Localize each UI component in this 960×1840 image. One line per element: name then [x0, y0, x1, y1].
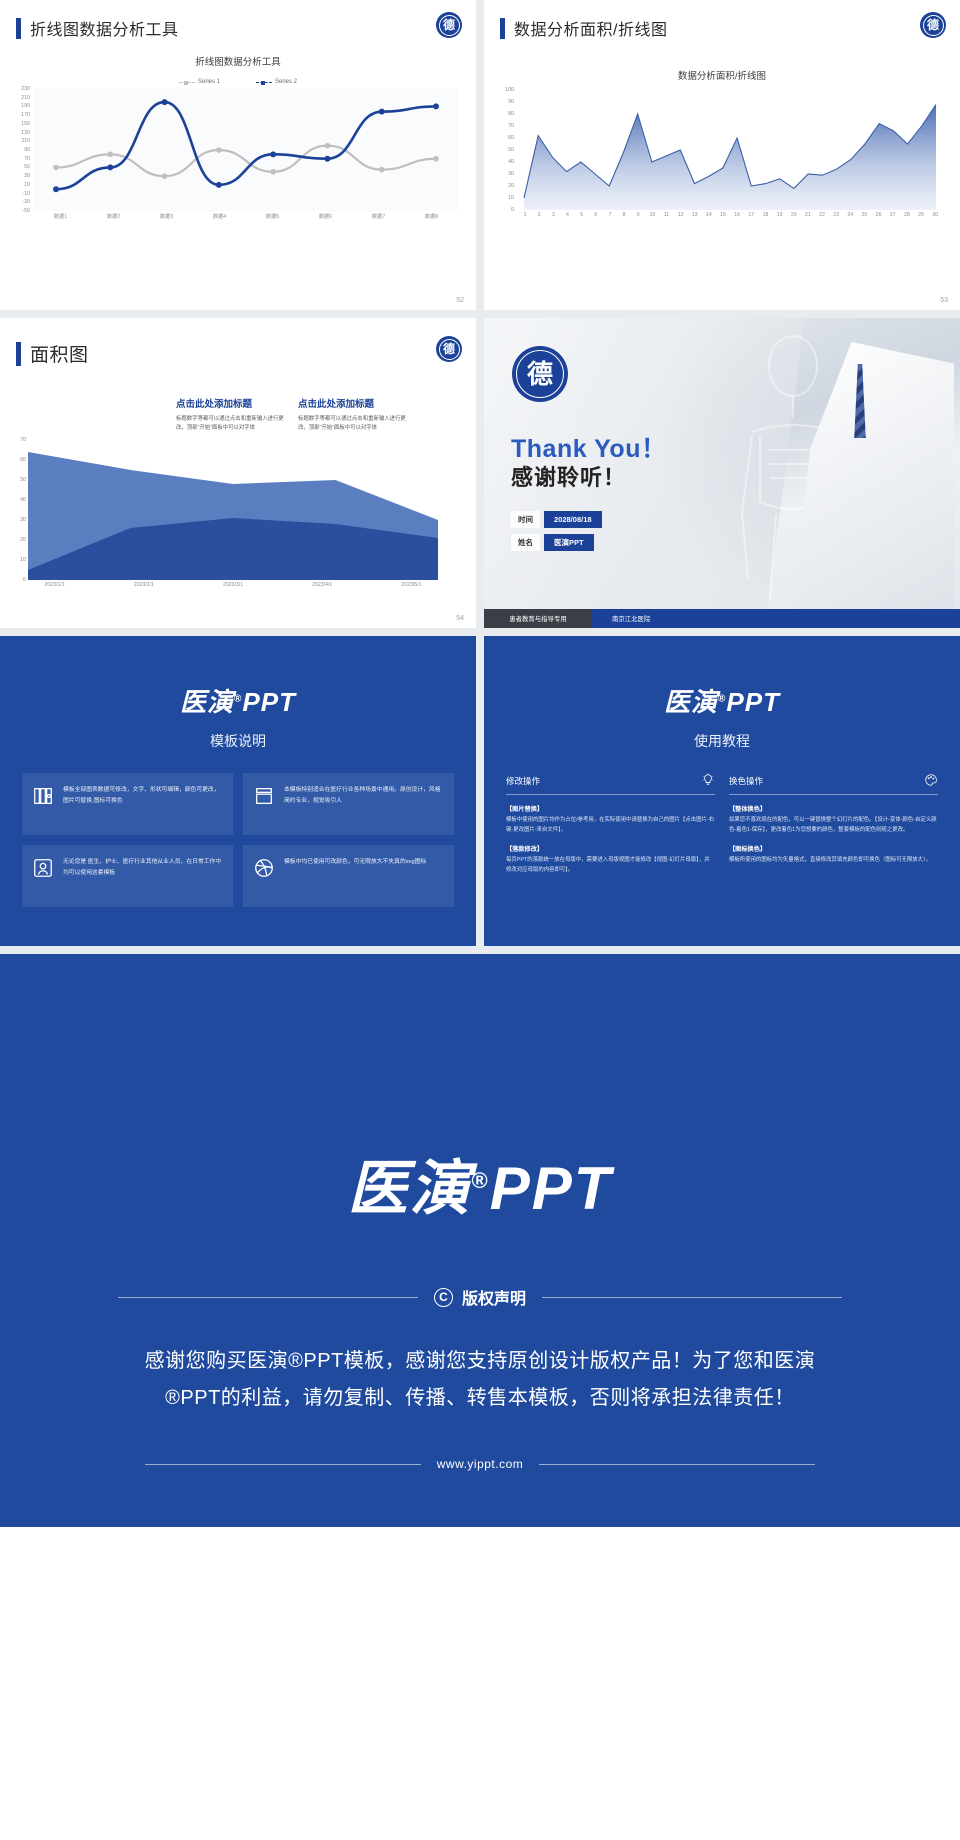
y-tick-label: 30 [24, 173, 30, 179]
divider-right [542, 1297, 842, 1298]
y-tick-label: 10 [24, 182, 30, 188]
brand-en: PPT [726, 687, 780, 717]
brand-en: PPT [242, 687, 296, 717]
data-point [216, 147, 222, 153]
info-card[interactable]: 无论您是 医生、护士、医疗行业其他从业人员，在日常工作中均可以使用这套模板 [22, 845, 233, 907]
column-gap [476, 318, 484, 628]
brand-wordmark: 医演®PPT [484, 636, 960, 719]
data-point [107, 164, 113, 170]
tutorial-item-body: 每页PPT的落款统一放在母版中，需要进入母版视图才能修改【视图-幻灯片母版】，并… [506, 856, 715, 875]
x-tick-label: 数据5 [246, 213, 299, 220]
data-point [162, 99, 168, 105]
slide-area-line-chart[interactable]: 数据分析面积/折线图 德 数据分析面积/折线图 1009080706050403… [484, 0, 960, 310]
tutorial-item: 【整体换色】 如果您不喜欢现在的配色，可以一键替换整个幻灯片的配色。【设计-变体… [729, 804, 938, 835]
column-gap [476, 636, 484, 946]
x-tick-label: 数据3 [140, 213, 193, 220]
thank-you-chinese: 感谢聆听！ [511, 460, 626, 492]
x-tick-label: 12 [674, 212, 688, 218]
slide2-x-axis: 1234567891011121314151617181920212223242… [518, 212, 942, 218]
copyright-badge: C 版权声明 [434, 1285, 526, 1309]
slide-template-info[interactable]: 医演®PPT 模板说明 模板全部图表数据可修改，文字、形状可编辑，颜色可更改，图… [0, 636, 476, 946]
tutorial-item: 【图标换色】 模板所使用的图标均为矢量格式，直接修改其填充颜色即可换色（图标可无… [729, 844, 938, 866]
slide3-block-heading: 点击此处添加标题 [298, 396, 408, 410]
slide3-header: 面积图 德 [0, 318, 476, 367]
field-date: 时间 2028/08/18 [511, 511, 602, 528]
field-date-label: 时间 [511, 511, 540, 528]
x-tick-label: 2023/2/1 [99, 582, 188, 588]
tutorial-column-header: 换色操作 [729, 773, 938, 795]
x-tick-label: 2023/1/1 [10, 582, 99, 588]
legend-marker-series1 [179, 82, 195, 83]
slides-row-2: 面积图 德 点击此处添加标题 标题数字等都可以通过点击和重新输入进行更改，顶部“… [0, 318, 960, 628]
info-card-text: 模板中均已使用可改颜色，可无限放大不失真的svg图标 [284, 857, 426, 868]
field-name: 姓名 医演PPT [511, 534, 594, 551]
x-tick-label: 2 [532, 212, 546, 218]
thank-you-footer-bar: 患者教育与指导专用 南京江北医院 [484, 609, 960, 628]
footer-left-text: 患者教育与指导专用 [484, 609, 592, 628]
y-tick-label: 20 [20, 537, 26, 543]
logo-char: 德 [920, 12, 946, 38]
legend-label-series1: Series 1 [198, 79, 220, 85]
y-tick-label: 70 [508, 123, 514, 129]
slide2-page-number: 53 [940, 297, 948, 304]
slide1-chart-title: 折线图数据分析工具 [0, 54, 476, 68]
slide3-x-axis: 2023/1/12023/2/12023/3/12023/4/12023/5/1 [10, 582, 456, 588]
y-tick-label: 30 [508, 171, 514, 177]
tutorial-item: 【落款修改】 每页PPT的落款统一放在母版中，需要进入母版视图才能修改【视图-幻… [506, 844, 715, 875]
info-card[interactable]: 模板中均已使用可改颜色，可无限放大不失真的svg图标 [243, 845, 454, 907]
slides-row-3: 医演®PPT 模板说明 模板全部图表数据可修改，文字、形状可编辑，颜色可更改，图… [0, 636, 960, 946]
y-tick-label: 10 [20, 557, 26, 563]
row-gap [0, 310, 960, 318]
y-tick-label: 60 [508, 135, 514, 141]
x-tick-label: 29 [914, 212, 928, 218]
hospital-logo-icon: 德 [436, 336, 462, 367]
x-tick-label: 6 [589, 212, 603, 218]
y-tick-label: 30 [20, 517, 26, 523]
data-point [53, 165, 59, 171]
x-tick-label: 25 [857, 212, 871, 218]
slide3-text-block: 点击此处添加标题 标题数字等都可以通过点击和重新输入进行更改，顶部“开始”面板中… [176, 396, 286, 434]
y-tick-label: 90 [24, 147, 30, 153]
copyright-badge-row: C 版权声明 [0, 1285, 960, 1309]
brand-cn: 医演 [348, 1155, 472, 1222]
legend-item-series2: Series 2 [256, 79, 297, 85]
x-tick-label: 13 [688, 212, 702, 218]
x-tick-label: 2023/4/1 [278, 582, 367, 588]
y-tick-label: 20 [508, 183, 514, 189]
slide3-block-body: 标题数字等都可以通过点击和重新输入进行更改，顶部“开始”面板中可以对字体 [298, 415, 408, 434]
x-tick-label: 10 [645, 212, 659, 218]
slide-thank-you[interactable]: 德 Thank You！ 感谢聆听！ 时间 2028/08/18 姓名 医演PP… [484, 318, 960, 628]
tutorial-item: 【图片替换】 模板中使用的图片均作为占位/参考用，在实际使用中请替换为自己的图片… [506, 804, 715, 835]
info-card-text: 无论您是 医生、护士、医疗行业其他从业人员，在日常工作中均可以使用这套模板 [63, 857, 223, 878]
series-line-1 [56, 146, 436, 177]
legend-label-series2: Series 2 [275, 79, 297, 85]
x-tick-label: 数据6 [299, 213, 352, 220]
brand-cn: 医演 [180, 687, 234, 717]
x-tick-label: 7 [603, 212, 617, 218]
slide2-area-svg [518, 90, 942, 210]
field-name-label: 姓名 [511, 534, 540, 551]
row-gap [0, 946, 960, 954]
x-tick-label: 20 [787, 212, 801, 218]
x-tick-label: 28 [900, 212, 914, 218]
slide1-header: 折线图数据分析工具 德 [0, 0, 476, 40]
tutorial-item-title: 【图片替换】 [506, 804, 715, 813]
y-tick-label: 10 [508, 195, 514, 201]
slide-copyright[interactable]: 医演®PPT C 版权声明 感谢您购买医演®PPT模板，感谢您支持原创设计版权产… [0, 954, 960, 1527]
legend-marker-series2 [256, 82, 272, 83]
user-circle-icon [32, 857, 54, 879]
x-tick-label: 30 [928, 212, 942, 218]
x-tick-label: 22 [815, 212, 829, 218]
logo-char: 德 [436, 336, 462, 362]
book-pages-icon [32, 785, 54, 807]
x-tick-label: 3 [546, 212, 560, 218]
data-point [379, 109, 385, 115]
slide3-block-body: 标题数字等都可以通过点击和重新输入进行更改，顶部“开始”面板中可以对字体 [176, 415, 286, 434]
y-tick-label: 80 [508, 111, 514, 117]
y-tick-label: 100 [505, 87, 514, 93]
slide3-text-block: 点击此处添加标题 标题数字等都可以通过点击和重新输入进行更改，顶部“开始”面板中… [298, 396, 408, 434]
tutorial-column-heading: 修改操作 [506, 775, 540, 787]
x-tick-label: 数据8 [405, 213, 458, 220]
tutorial-column-header: 修改操作 [506, 773, 715, 795]
logo-char: 德 [512, 346, 568, 402]
y-tick-label: 50 [508, 147, 514, 153]
hospital-logo-icon: 德 [920, 12, 946, 43]
data-point [379, 167, 385, 173]
field-date-value: 2028/08/18 [544, 511, 602, 528]
y-tick-label: -10 [22, 191, 30, 197]
y-tick-label: -50 [22, 208, 30, 214]
x-tick-label: 18 [758, 212, 772, 218]
y-tick-label: 0 [511, 207, 514, 213]
x-tick-label: 数据1 [34, 213, 87, 220]
x-tick-label: 5 [575, 212, 589, 218]
data-point [324, 156, 330, 162]
title-accent-bar [500, 18, 505, 39]
y-tick-label: 210 [21, 95, 30, 101]
slide1-y-axis: 2302101901701501301109070503010-10-30-50 [8, 89, 30, 211]
data-point [107, 152, 113, 158]
brand-cn: 医演 [664, 687, 718, 717]
y-tick-label: 230 [21, 86, 30, 92]
y-tick-label: 190 [21, 103, 30, 109]
brand-wordmark: 医演®PPT [0, 636, 476, 719]
x-tick-label: 4 [560, 212, 574, 218]
tutorial-item-body: 模板所使用的图标均为矢量格式，直接修改其填充颜色即可换色（图标可无限放大）。 [729, 856, 938, 866]
slide2-plot: 1009080706050403020100 12345678910111213… [492, 90, 946, 230]
data-point [433, 156, 439, 162]
y-tick-label: 90 [508, 99, 514, 105]
x-tick-label: 8 [617, 212, 631, 218]
slide2-header: 数据分析面积/折线图 德 [484, 0, 960, 40]
divider-left [118, 1297, 418, 1298]
data-point [270, 169, 276, 175]
hospital-logo-icon: 德 [436, 12, 462, 43]
x-tick-label: 2023/5/1 [367, 582, 456, 588]
y-tick-label: 70 [20, 437, 26, 443]
x-tick-label: 9 [631, 212, 645, 218]
template-info-subtitle: 模板说明 [0, 731, 476, 751]
logo-char: 德 [436, 12, 462, 38]
x-tick-label: 19 [773, 212, 787, 218]
copyright-c-icon: C [434, 1288, 453, 1307]
divider-left-2 [145, 1464, 421, 1465]
slide3-area-svg [28, 440, 438, 580]
title-accent-bar [16, 342, 21, 366]
slide3-page-number: 54 [456, 615, 464, 622]
copyright-url[interactable]: www.yippt.com [437, 1457, 524, 1471]
y-tick-label: 130 [21, 130, 30, 136]
info-card-text: 本模板特别适合在医疗行业各种场景中通用。原创设计，风格简约专业，视觉吸引人 [284, 785, 444, 806]
slide1-x-axis: 数据1数据2数据3数据4数据5数据6数据7数据8 [34, 213, 458, 220]
brand-en: PPT [490, 1155, 613, 1222]
slide-stacked-area-chart[interactable]: 面积图 德 点击此处添加标题 标题数字等都可以通过点击和重新输入进行更改，顶部“… [0, 318, 476, 628]
slide-line-chart[interactable]: 折线图数据分析工具 德 折线图数据分析工具 Series 1 Series 2 … [0, 0, 476, 310]
tutorial-items: 【整体换色】 如果您不喜欢现在的配色，可以一键替换整个幻灯片的配色。【设计-变体… [729, 804, 938, 866]
brand-reg: ® [472, 1168, 490, 1193]
data-point [53, 186, 59, 192]
x-tick-label: 16 [730, 212, 744, 218]
title-accent-bar [16, 18, 21, 39]
legend-item-series1: Series 1 [179, 79, 220, 85]
copyright-statement: 感谢您购买医演®PPT模板，感谢您支持原创设计版权产品！为了您和医演®PPT的利… [0, 1343, 960, 1417]
x-tick-label: 24 [843, 212, 857, 218]
info-card[interactable]: 模板全部图表数据可修改，文字、形状可编辑，颜色可更改，图片可替换,图标可换色 [22, 773, 233, 835]
tutorial-item-title: 【落款修改】 [506, 844, 715, 853]
dribbble-icon [253, 857, 275, 879]
data-point [270, 151, 276, 157]
slide-usage-tutorial[interactable]: 医演®PPT 使用教程 修改操作 【图片替换】 模板中使 [484, 636, 960, 946]
tutorial-column-modify: 修改操作 【图片替换】 模板中使用的图片均作为占位/参考用，在实际使用中请替换为… [506, 773, 715, 885]
tutorial-item-body: 如果您不喜欢现在的配色，可以一键替换整个幻灯片的配色。【设计-变体-颜色-自定义… [729, 816, 938, 835]
hospital-logo-large-icon: 德 [512, 346, 568, 407]
tutorial-column-heading: 换色操作 [729, 775, 763, 787]
y-tick-label: 50 [20, 477, 26, 483]
tutorial-subtitle: 使用教程 [484, 731, 960, 751]
slide2-y-axis: 1009080706050403020100 [492, 90, 514, 210]
tutorial-items: 【图片替换】 模板中使用的图片均作为占位/参考用，在实际使用中请替换为自己的图片… [506, 804, 715, 876]
x-tick-label: 23 [829, 212, 843, 218]
slide3-block-heading: 点击此处添加标题 [176, 396, 286, 410]
template-info-cards-row-1: 模板全部图表数据可修改，文字、形状可编辑，颜色可更改，图片可替换,图标可换色 本… [0, 751, 476, 835]
x-tick-label: 数据2 [87, 213, 140, 220]
x-tick-label: 26 [872, 212, 886, 218]
y-tick-label: 70 [24, 156, 30, 162]
x-tick-label: 15 [716, 212, 730, 218]
slide2-title: 数据分析面积/折线图 [514, 16, 667, 40]
template-info-cards-row-2: 无论您是 医生、护士、医疗行业其他从业人员，在日常工作中均可以使用这套模板 模板… [0, 835, 476, 907]
data-point [162, 173, 168, 179]
y-tick-label: 110 [22, 138, 30, 144]
palette-icon [924, 773, 938, 789]
slide3-plot: 706050403020100 2023/1/12023/2/12023/3/1… [0, 440, 462, 600]
tutorial-item-body: 模板中使用的图片均作为占位/参考用，在实际使用中请替换为自己的图片【点击图片-右… [506, 816, 715, 835]
column-gap [476, 0, 484, 310]
x-tick-label: 数据7 [352, 213, 405, 220]
area-fill [524, 104, 936, 210]
y-tick-label: 170 [21, 112, 30, 118]
slides-row-1: 折线图数据分析工具 德 折线图数据分析工具 Series 1 Series 2 … [0, 0, 960, 310]
slide2-chart-title: 数据分析面积/折线图 [484, 68, 960, 82]
y-tick-label: 50 [24, 164, 30, 170]
slide1-line-svg [34, 89, 458, 211]
layers-icon [253, 785, 275, 807]
slide1-title: 折线图数据分析工具 [30, 16, 179, 40]
copyright-brand-wordmark: 医演®PPT [0, 954, 960, 1227]
divider-right-2 [539, 1464, 815, 1465]
slide3-y-axis: 706050403020100 [2, 440, 26, 580]
y-tick-label: 150 [21, 121, 30, 127]
info-card-text: 模板全部图表数据可修改，文字、形状可编辑，颜色可更改，图片可替换,图标可换色 [63, 785, 223, 806]
x-tick-label: 17 [744, 212, 758, 218]
info-card[interactable]: 本模板特别适合在医疗行业各种场景中通用。原创设计，风格简约专业，视觉吸引人 [243, 773, 454, 835]
slide1-page-number: 52 [456, 297, 464, 304]
x-tick-label: 21 [801, 212, 815, 218]
slide3-text-blocks: 点击此处添加标题 标题数字等都可以通过点击和重新输入进行更改，顶部“开始”面板中… [176, 396, 408, 434]
field-name-value: 医演PPT [544, 534, 594, 551]
copyright-badge-text: 版权声明 [462, 1285, 526, 1309]
x-tick-label: 数据4 [193, 213, 246, 220]
bulb-icon [701, 773, 715, 789]
data-point [216, 182, 222, 188]
copyright-url-row: www.yippt.com [0, 1457, 960, 1471]
row-gap [0, 628, 960, 636]
tutorial-column-recolor: 换色操作 【整体换色】 如果您不喜欢现在的配色，可以一键替换整个幻灯片的配色。【… [729, 773, 938, 885]
x-tick-label: 1 [518, 212, 532, 218]
data-point [325, 143, 331, 149]
series-line-2 [56, 102, 436, 189]
x-tick-label: 11 [659, 212, 673, 218]
y-tick-label: 40 [20, 497, 26, 503]
slide1-plot: 2302101901701501301109070503010-10-30-50… [8, 89, 462, 221]
x-tick-label: 2023/3/1 [188, 582, 277, 588]
y-tick-label: -30 [22, 199, 30, 205]
footer-right-text: 南京江北医院 [592, 609, 960, 628]
tutorial-item-title: 【整体换色】 [729, 804, 938, 813]
x-tick-label: 27 [886, 212, 900, 218]
x-tick-label: 14 [702, 212, 716, 218]
data-point [433, 103, 439, 109]
slide1-legend: Series 1 Series 2 [0, 79, 476, 85]
tutorial-item-title: 【图标换色】 [729, 844, 938, 853]
slide3-title: 面积图 [30, 340, 89, 367]
y-tick-label: 60 [20, 457, 26, 463]
tutorial-columns: 修改操作 【图片替换】 模板中使用的图片均作为占位/参考用，在实际使用中请替换为… [484, 751, 960, 885]
y-tick-label: 40 [508, 159, 514, 165]
